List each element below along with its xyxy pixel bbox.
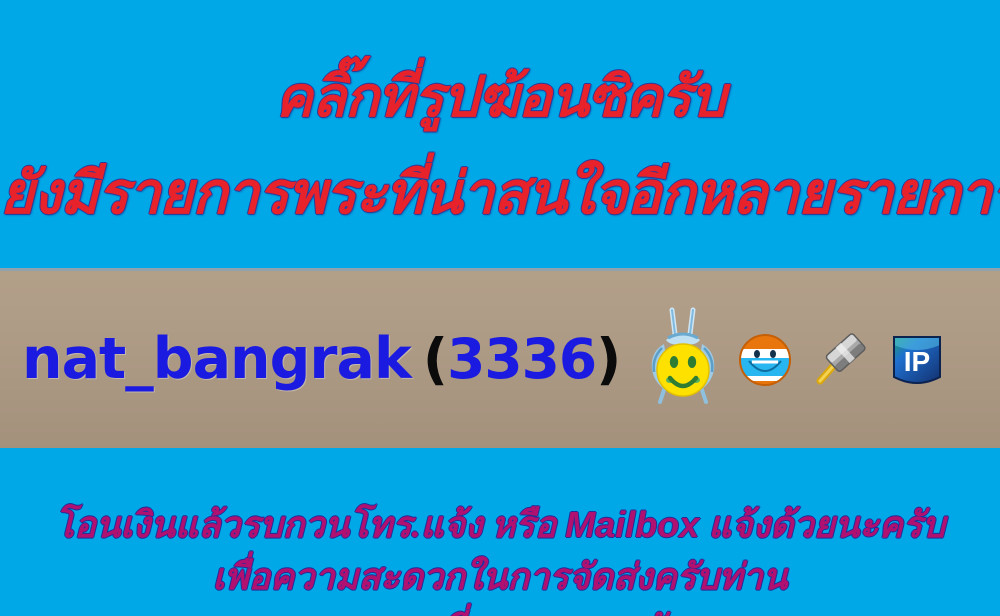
heading-section: คลิ๊กที่รูปฆ้อนซิครับ ยังมีรายการพระที่น… [0,0,1000,268]
username-label[interactable]: nat_bangrak [22,331,411,388]
footer-line-1-part-c: แจ้งด้วยนะครับ [699,505,945,545]
ip-badge-icon[interactable]: IP [886,329,948,391]
footer-mailbox-label: Mailbox [565,504,699,545]
footer-line-1: โอนเงินแล้วรบกวนโทร.แจ้ง หรือ Mailbox แจ… [0,496,1000,553]
ip-badge-text: IP [904,346,930,377]
post-count-open-paren: ( [423,327,447,391]
post-count-value: 3336 [447,327,596,391]
footer-section: โอนเงินแล้วรบกวนโทร.แจ้ง หรือ Mailbox แจ… [0,448,1000,616]
footer-line-2: เพื่อความสะดวกในการจัดส่งครับท่าน [0,548,1000,605]
open-mouth-smiley-icon[interactable] [734,329,796,391]
post-count-close-paren: ) [596,327,620,391]
footer-line-1-part-a: โอนเงินแล้วรบกวนโทร.แจ้ง หรือ [55,505,565,545]
user-icon-row: IP [646,305,948,415]
heading-line-1: คลิ๊กที่รูปฆ้อนซิครับ [0,52,1000,141]
post-count: (3336) [423,332,620,387]
heading-line-2: ยังมีรายการพระที่น่าสนใจอีกหลายรายการครั… [0,146,1000,239]
hammer-icon[interactable] [810,329,872,391]
user-banner-content: nat_bangrak (3336) [22,271,1000,448]
user-banner: nat_bangrak (3336) [0,268,1000,448]
footer-line-3: ขอบคุณที่แวะมาชมครับ [0,600,1000,616]
winged-smiley-icon[interactable] [646,305,720,415]
page-root: คลิ๊กที่รูปฆ้อนซิครับ ยังมีรายการพระที่น… [0,0,1000,616]
